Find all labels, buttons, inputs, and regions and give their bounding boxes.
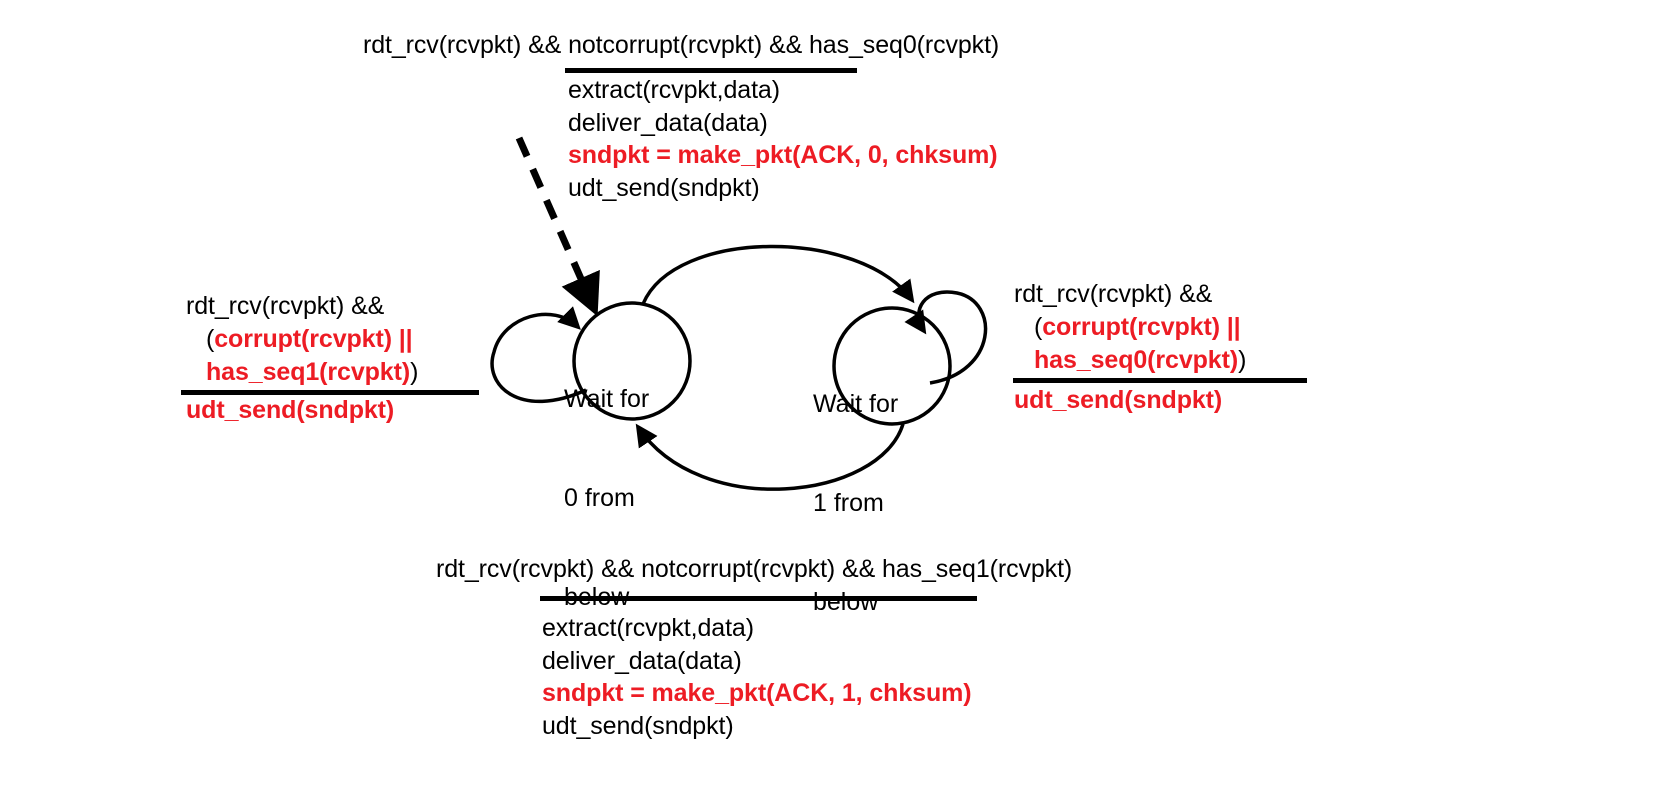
bottom-action-line-2: deliver_data(data) (542, 649, 742, 674)
state-label-wait0-line1: Wait for (564, 383, 664, 416)
self-loop-wait1 (919, 292, 986, 383)
right-condition-line-1: rdt_rcv(rcvpkt) && (1014, 282, 1212, 307)
top-action-line-4: udt_send(sndpkt) (568, 176, 760, 201)
left-condition-line-3: has_seq1(rcvpkt)) (206, 360, 418, 385)
right-condition-line-2: (corrupt(rcvpkt) || (1034, 315, 1241, 340)
left-action-line: udt_send(sndpkt) (186, 398, 394, 423)
right-condition-corrupt: corrupt(rcvpkt) || (1042, 313, 1240, 341)
top-action-line-1: extract(rcvpkt,data) (568, 78, 780, 103)
arc-top-wait0-to-wait1 (643, 246, 912, 304)
state-label-wait1-line1: Wait for (813, 388, 913, 421)
fsm-diagram-canvas: Wait for 0 from below Wait for 1 from be… (0, 0, 1675, 808)
left-transition-divider (181, 390, 479, 395)
top-transition-condition: rdt_rcv(rcvpkt) && notcorrupt(rcvpkt) &&… (363, 33, 999, 58)
left-condition-open-paren: ( (206, 325, 214, 353)
bottom-transition-condition: rdt_rcv(rcvpkt) && notcorrupt(rcvpkt) &&… (436, 557, 1072, 582)
left-condition-has-seq1: has_seq1(rcvpkt) (206, 358, 410, 386)
left-condition-line-1: rdt_rcv(rcvpkt) && (186, 294, 384, 319)
state-label-wait1-line3: below (813, 586, 913, 619)
state-label-wait1: Wait for 1 from below (813, 322, 913, 685)
top-action-line-3: sndpkt = make_pkt(ACK, 0, chksum) (568, 143, 997, 168)
right-condition-line-3: has_seq0(rcvpkt)) (1034, 348, 1246, 373)
right-action-line: udt_send(sndpkt) (1014, 388, 1222, 413)
right-transition-divider (1013, 378, 1307, 383)
left-condition-corrupt: corrupt(rcvpkt) || (214, 325, 412, 353)
state-label-wait0-line2: 0 from (564, 482, 664, 515)
state-label-wait1-line2: 1 from (813, 487, 913, 520)
bottom-action-line-3: sndpkt = make_pkt(ACK, 1, chksum) (542, 681, 971, 706)
right-condition-open-paren: ( (1034, 313, 1042, 341)
right-condition-has-seq0: has_seq0(rcvpkt) (1034, 346, 1238, 374)
right-condition-close-paren: ) (1238, 346, 1246, 374)
left-condition-line-2: (corrupt(rcvpkt) || (206, 327, 413, 352)
bottom-action-line-1: extract(rcvpkt,data) (542, 616, 754, 641)
bottom-transition-divider (540, 596, 977, 601)
left-condition-close-paren: ) (410, 358, 418, 386)
top-transition-divider (565, 68, 857, 73)
top-action-line-2: deliver_data(data) (568, 111, 768, 136)
bottom-action-line-4: udt_send(sndpkt) (542, 714, 734, 739)
